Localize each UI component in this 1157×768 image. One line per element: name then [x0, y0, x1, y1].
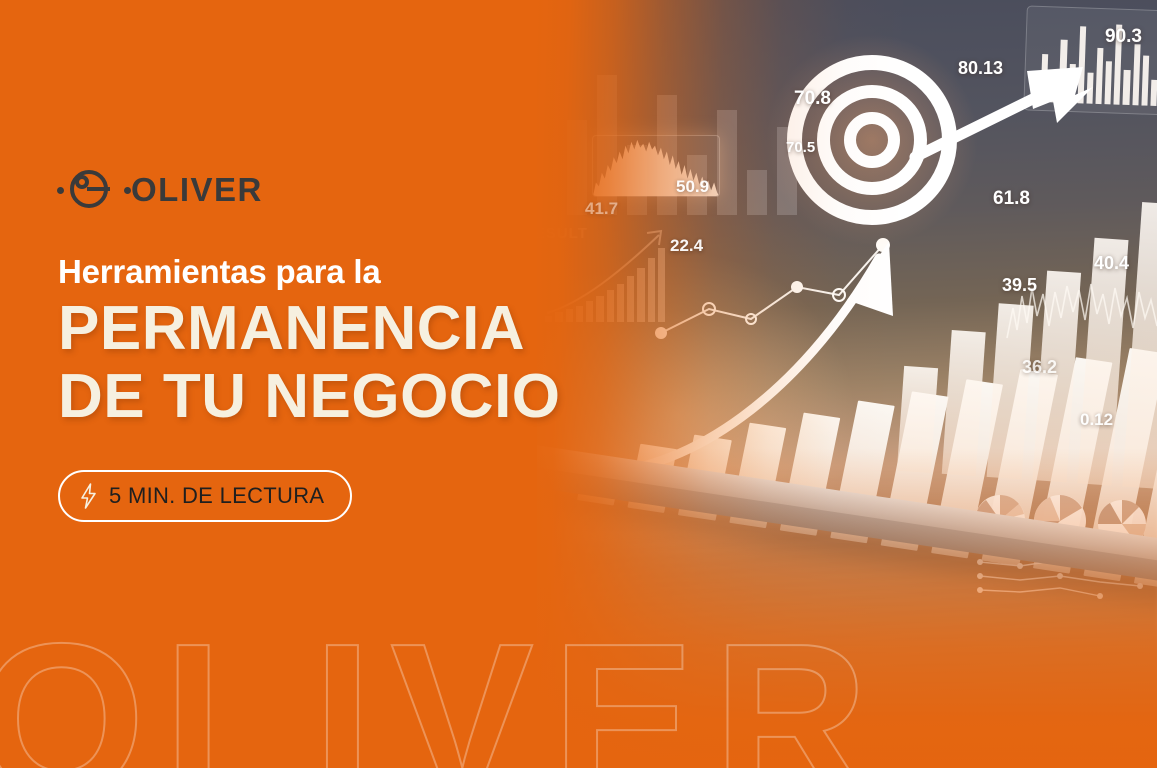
oliver-circle-mark-icon [57, 168, 131, 210]
page-title: PERMANENCIA DE TU NEGOCIO [58, 295, 561, 430]
lightning-bolt-icon [80, 483, 97, 509]
headline-line-1: PERMANENCIA [58, 295, 561, 363]
orange-bottom-fade [537, 448, 1157, 768]
logo-horizontal-bar [87, 187, 110, 191]
headline-line-2: DE TU NEGOCIO [58, 363, 561, 431]
logo-wordmark: OLIVER [131, 173, 263, 206]
reading-time-badge[interactable]: 5 MIN. DE LECTURA [58, 470, 352, 522]
hero-kicker: Herramientas para la [58, 253, 381, 291]
hero-content: OLIVER Herramientas para la PERMANENCIA … [0, 0, 620, 768]
hero-banner: RESULT [0, 0, 1157, 768]
reading-time-label: 5 MIN. DE LECTURA [109, 483, 324, 509]
hero-photo: RESULT [537, 0, 1157, 768]
logo-inner-circle [75, 175, 89, 189]
logo-dot-left [57, 187, 64, 194]
brand-logo[interactable]: OLIVER [57, 168, 263, 210]
logo-dot-right [124, 187, 131, 194]
